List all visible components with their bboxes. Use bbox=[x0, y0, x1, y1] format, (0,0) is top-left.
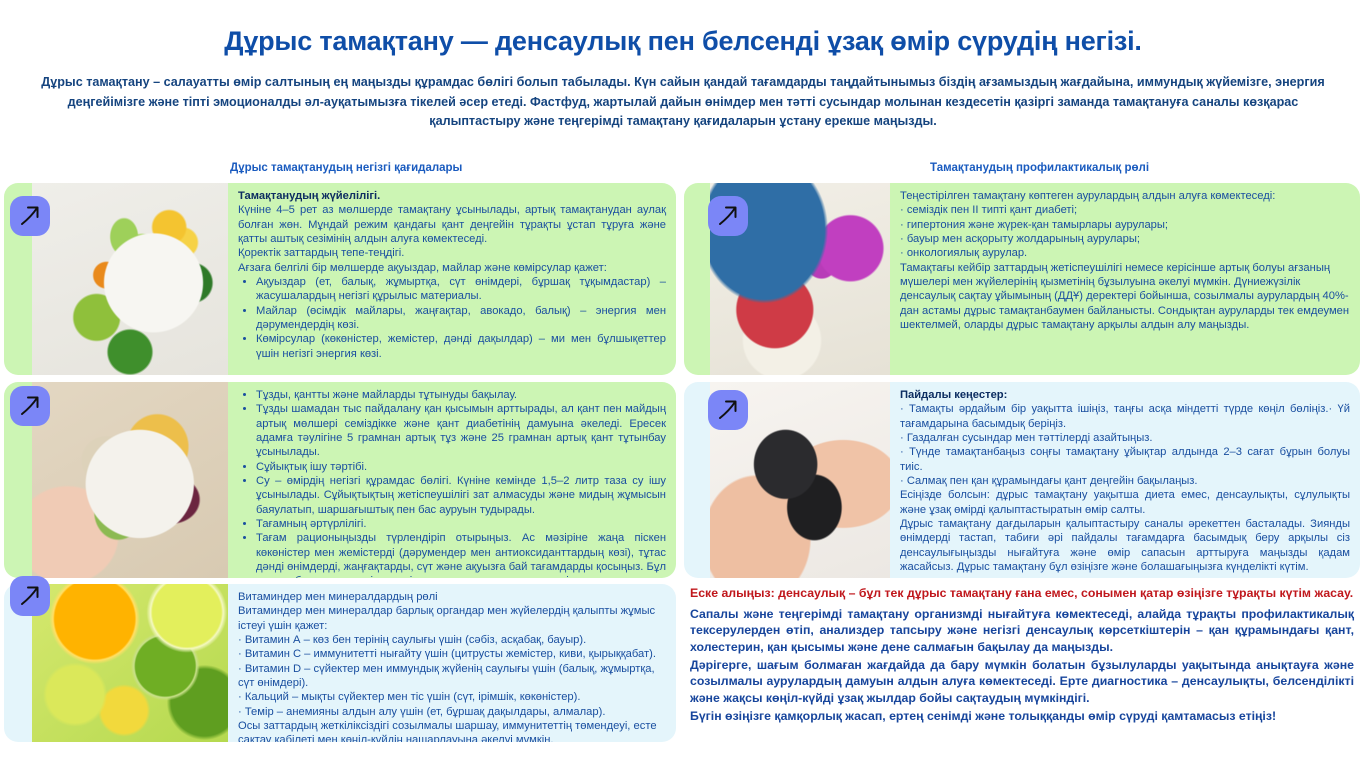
list-item: Ақуыздар (ет, балық, жұмыртқа, сүт өнімд… bbox=[256, 275, 666, 304]
arrow-up-right-icon bbox=[715, 203, 741, 229]
left-panel-principles-text: Тамақтанудың жүйелілігі. Күніне 4–5 рет … bbox=[228, 183, 676, 375]
arrow-up-right-icon-badge-3[interactable] bbox=[10, 576, 50, 616]
arrow-up-right-icon bbox=[17, 583, 43, 609]
left-panel-salt-water-variety: Тұзды, қантты және майларды тұтынуды бақ… bbox=[4, 382, 676, 578]
list-item: Тағамның әртүрлілігі. bbox=[256, 517, 666, 531]
arrow-up-right-icon-badge-2[interactable] bbox=[10, 386, 50, 426]
poster-root: Дұрыс тамақтану — денсаулық пен белсенді… bbox=[0, 0, 1366, 768]
image-bowl-meal bbox=[32, 382, 228, 578]
list-item: Су – өмірдің негізгі құрамдас бөлігі. Кү… bbox=[256, 474, 666, 517]
content-columns: Дұрыс тамақтанудың негізгі қағидалары Та… bbox=[0, 158, 1366, 768]
tips-heading: Пайдалы кеңестер: bbox=[900, 388, 1350, 402]
disease-item-oncology: · онкологиялық аурулар. bbox=[900, 246, 1350, 260]
habits-conclusion: Дұрыс тамақтану дағдыларын қалыптастыру … bbox=[900, 517, 1350, 574]
right-panel-prevention-text: Теңестірілген тамақтану көптеген аурулар… bbox=[890, 183, 1360, 375]
left-panel-principles: Тамақтанудың жүйелілігі. Күніне 4–5 рет … bbox=[4, 183, 676, 375]
photo-salad bbox=[32, 183, 228, 375]
arrow-up-right-icon bbox=[17, 203, 43, 229]
list-item: Тағам рационыңызды түрлендіріп отырыңыз.… bbox=[256, 531, 666, 578]
list-item: Майлар (өсімдік майлары, жаңғақтар, авок… bbox=[256, 304, 666, 333]
right-panel-tips: Пайдалы кеңестер: · Тамақты әрдайым бір … bbox=[684, 382, 1360, 578]
who-statistics-text: Тамақтағы кейбір заттардың жетіспеушіліг… bbox=[900, 261, 1350, 333]
tip-item-weight-sugar: · Салмақ пен қан құрамындағы қант деңгей… bbox=[900, 474, 1350, 488]
nutrient-bullet-list: Ақуыздар (ет, балық, жұмыртқа, сүт өнімд… bbox=[238, 275, 666, 361]
right-panel-tips-text: Пайдалы кеңестер: · Тамақты әрдайым бір … bbox=[890, 382, 1360, 578]
arrow-up-right-icon-badge-5[interactable] bbox=[708, 390, 748, 430]
right-column-heading: Тамақтанудың профилактикалық рөлі bbox=[680, 158, 1366, 178]
left-panel-salt-water-text: Тұзды, қантты және майларды тұтынуды бақ… bbox=[228, 382, 676, 578]
conclusion-block: Еске алыңыз: денсаулық – бұл тек дұрыс т… bbox=[690, 586, 1354, 724]
list-item: Көмірсулар (көкөністер, жемістер, дәнді … bbox=[256, 332, 666, 361]
list-item: Тұзды шамадан тыс пайдалану қан қысымын … bbox=[256, 402, 666, 459]
habits-bullet-list: Тұзды, қантты және майларды тұтынуды бақ… bbox=[238, 388, 666, 578]
right-column: Тамақтанудың профилактикалық рөлі Теңест… bbox=[680, 158, 1366, 768]
deficiency-note: Осы заттардың жеткіліксіздігі созылмалы … bbox=[238, 719, 666, 742]
conclusion-paragraph-3: Бүгін өзіңізге қамқорлық жасап, ертең се… bbox=[690, 708, 1354, 724]
vitamins-intro: Витаминдер мен минералдар барлық органда… bbox=[238, 604, 666, 633]
vitamins-heading: Витаминдер мен минералдардың рөлі bbox=[238, 590, 666, 604]
right-panel-prevention: Теңестірілген тамақтану көптеген аурулар… bbox=[684, 183, 1360, 375]
vitamin-d-item: · Витамин D – сүйектер мен иммундық жүйе… bbox=[238, 662, 666, 691]
calcium-item: · Кальций – мықты сүйектер мен тіс үшін … bbox=[238, 690, 666, 704]
list-item: Тұзды, қантты және майларды тұтынуды бақ… bbox=[256, 388, 666, 402]
tip-item-schedule: · Тамақты әрдайым бір уақытта ішіңіз, та… bbox=[900, 402, 1350, 431]
disease-item-obesity: · семіздік пен II типті қант диабеті; bbox=[900, 203, 1350, 217]
nutrient-intro: Ағзаға белгілі бір мөлшерде ақуыздар, ма… bbox=[238, 261, 666, 275]
image-citrus-kiwi bbox=[32, 584, 228, 742]
meal-regularity-text: Күніне 4–5 рет аз мөлшерде тамақтану ұсы… bbox=[238, 203, 666, 246]
disease-item-liver: · бауыр мен асқорыту жолдарының аурулары… bbox=[900, 232, 1350, 246]
disease-item-hypertension: · гипертония және жүрек-қан тамырлары ау… bbox=[900, 218, 1350, 232]
arrow-up-right-icon bbox=[17, 393, 43, 419]
left-column: Дұрыс тамақтанудың негізгі қағидалары Та… bbox=[0, 158, 680, 768]
conclusion-paragraph-1: Сапалы және теңгерімді тамақтану организ… bbox=[690, 606, 1354, 655]
tip-item-sugary-drinks: · Газдалған сусындар мен тәттілерді азай… bbox=[900, 431, 1350, 445]
photo-bowl bbox=[32, 382, 228, 578]
iron-item: · Темір – анемияны алдын алу үшін (ет, б… bbox=[238, 705, 666, 719]
prevention-intro: Теңестірілген тамақтану көптеген аурулар… bbox=[900, 189, 1350, 203]
vitamin-c-item: · Витамин С – иммунитетті нығайту үшін (… bbox=[238, 647, 666, 661]
arrow-up-right-icon-badge-1[interactable] bbox=[10, 196, 50, 236]
image-plate-vegetables bbox=[32, 183, 228, 375]
arrow-up-right-icon-badge-4[interactable] bbox=[708, 196, 748, 236]
left-panel-vitamins: Витаминдер мен минералдардың рөлі Витами… bbox=[4, 584, 676, 742]
list-item: Сұйықтық ішу тәртібі. bbox=[256, 460, 666, 474]
meal-regularity-heading: Тамақтанудың жүйелілігі. bbox=[238, 189, 666, 203]
vitamin-a-item: · Витамин А – көз бен терінің саулығы үш… bbox=[238, 633, 666, 647]
photo-fruit bbox=[32, 584, 228, 742]
left-panel-vitamins-text: Витаминдер мен минералдардың рөлі Витами… bbox=[228, 584, 676, 742]
conclusion-red-note: Еске алыңыз: денсаулық – бұл тек дұрыс т… bbox=[690, 586, 1354, 602]
lifestyle-note: Есіңізде болсын: дұрыс тамақтану уақытша… bbox=[900, 488, 1350, 517]
arrow-up-right-icon bbox=[715, 397, 741, 423]
intro-paragraph: Дұрыс тамақтану – салауатты өмір салтыны… bbox=[0, 57, 1366, 132]
left-column-heading: Дұрыс тамақтанудың негізгі қағидалары bbox=[0, 158, 680, 178]
conclusion-paragraph-2: Дәрігерге, шағым болмаған жағдайда да ба… bbox=[690, 657, 1354, 706]
page-title: Дұрыс тамақтану — денсаулық пен белсенді… bbox=[0, 0, 1366, 57]
nutrient-balance-subheading: Қоректік заттардың тепе-теңдігі. bbox=[238, 246, 666, 260]
tip-item-night-eating: · Түнде тамақтанбаңыз соңғы тамақтану ұй… bbox=[900, 445, 1350, 474]
